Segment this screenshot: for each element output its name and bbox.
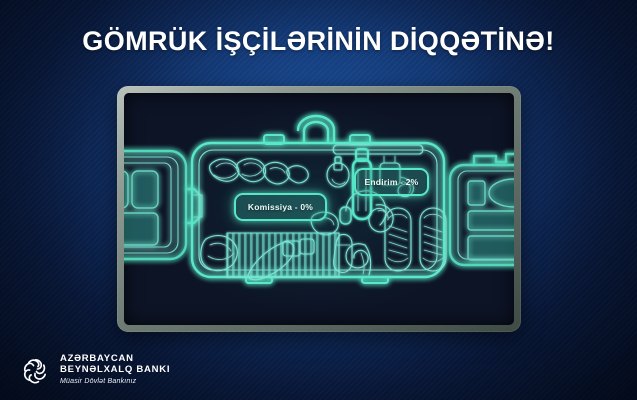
badge-endirim[interactable]: Endirim - 2% — [354, 168, 429, 196]
logo-line-2: BEYNƏLXALQ BANKI — [60, 365, 170, 376]
suitcase-right — [450, 154, 514, 265]
bank-logo: AZƏRBAYCAN BEYNƏLXALQ BANKI Müasir Dövlə… — [20, 354, 170, 386]
badge-komissiya[interactable]: Komissiya - 0% — [234, 193, 327, 221]
pinwheel-star-icon — [20, 355, 51, 386]
suitcase-left — [124, 151, 202, 259]
xray-scanner-monitor: Komissiya - 0% Endirim - 2% — [117, 86, 521, 332]
scarf — [210, 159, 309, 184]
perfume-bottle — [327, 157, 349, 187]
banner-title: GÖMRÜK İŞÇİLƏRİNİN DİQQƏTİNƏ! — [0, 26, 637, 57]
logo-tagline: Müasir Dövlət Bankınız — [60, 378, 170, 386]
scanner-screen: Komissiya - 0% Endirim - 2% — [124, 93, 514, 325]
promo-banner: GÖMRÜK İŞÇİLƏRİNİN DİQQƏTİNƏ! — [0, 0, 637, 400]
